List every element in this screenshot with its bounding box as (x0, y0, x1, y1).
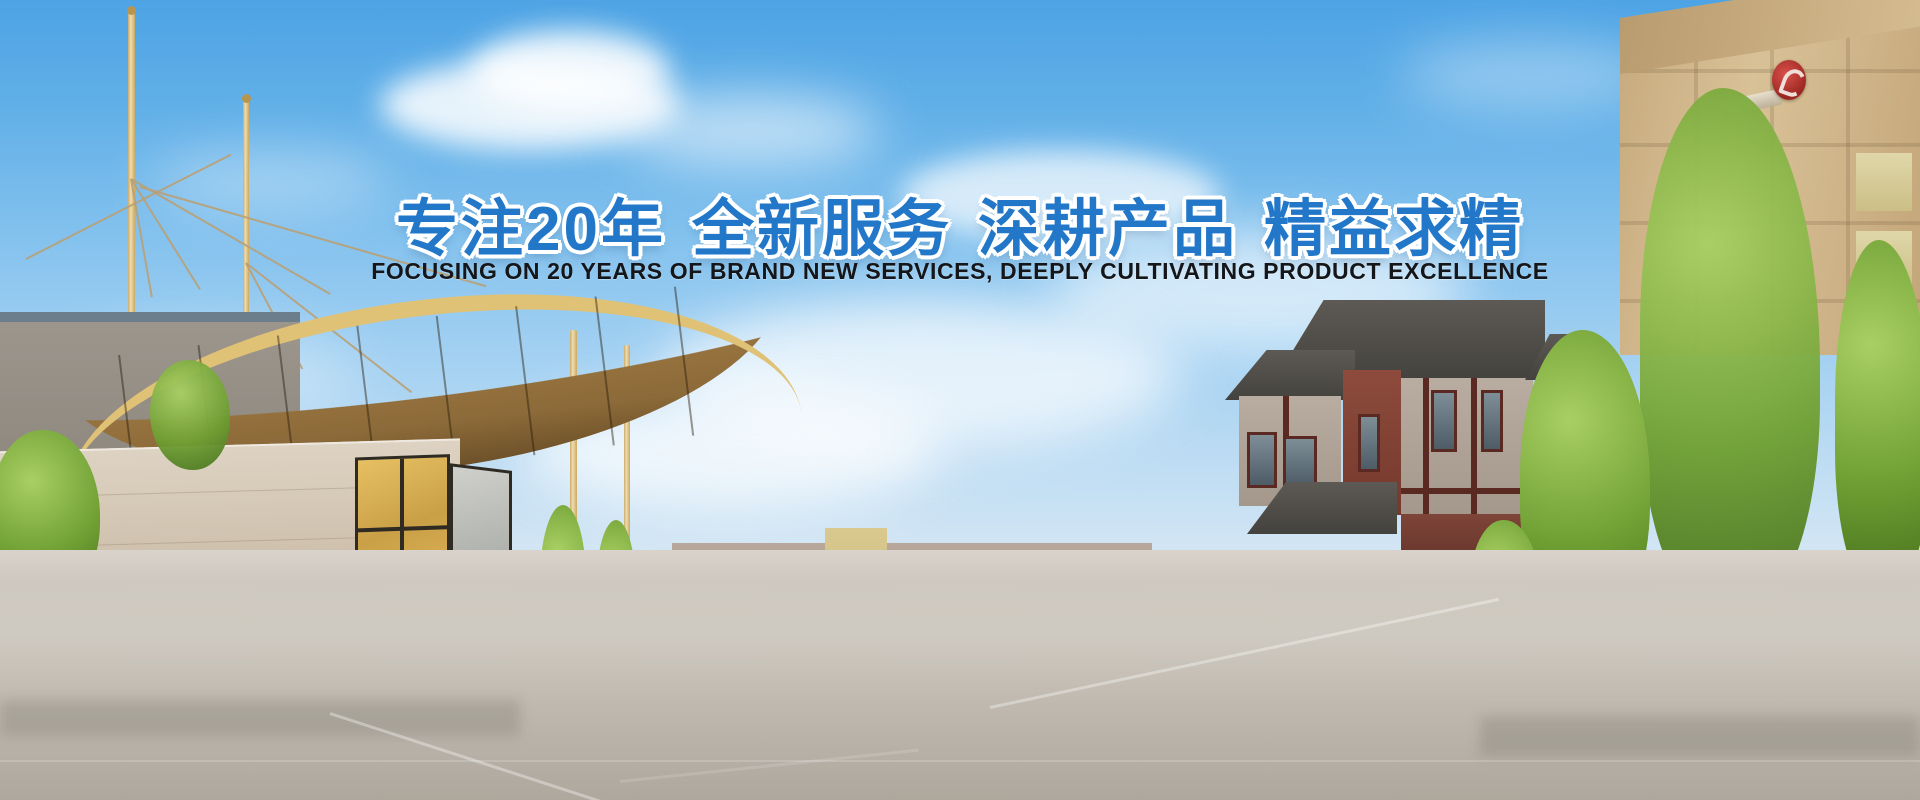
house-window-main-a (1431, 390, 1457, 452)
house-timber-main-a (1423, 378, 1429, 516)
company-hero-banner: 股权代码: 660873 神龙拜耳 (0, 0, 1920, 800)
headline-segment-3: 深耕产品 (978, 195, 1238, 264)
house-gable-roof-left (1225, 350, 1355, 400)
page-subtitle: FOCUSING ON 20 YEARS OF BRAND NEW SERVIC… (0, 258, 1920, 285)
house-timber-main-b (1471, 378, 1477, 516)
headline-segment-2: 全新服务 (692, 195, 952, 264)
pavement-joint-c (0, 760, 1920, 762)
house-window-center (1358, 414, 1380, 472)
house-timber-main-c (1401, 488, 1533, 494)
headline-segment-4: 精益求精 (1264, 195, 1524, 264)
pavement-shadow-left (0, 700, 520, 736)
headline-segment-1: 专注20年 (396, 195, 666, 264)
page-title: 专注20年全新服务深耕产品精益求精 (0, 178, 1920, 268)
house-window-left-b (1283, 436, 1317, 488)
house-main-wall (1401, 378, 1533, 516)
pavement (0, 550, 1920, 800)
house-window-main-b (1481, 390, 1503, 452)
tree-left-small (150, 360, 230, 490)
pavement-shadow-right (1480, 716, 1920, 756)
house-window-left-a (1247, 432, 1277, 488)
